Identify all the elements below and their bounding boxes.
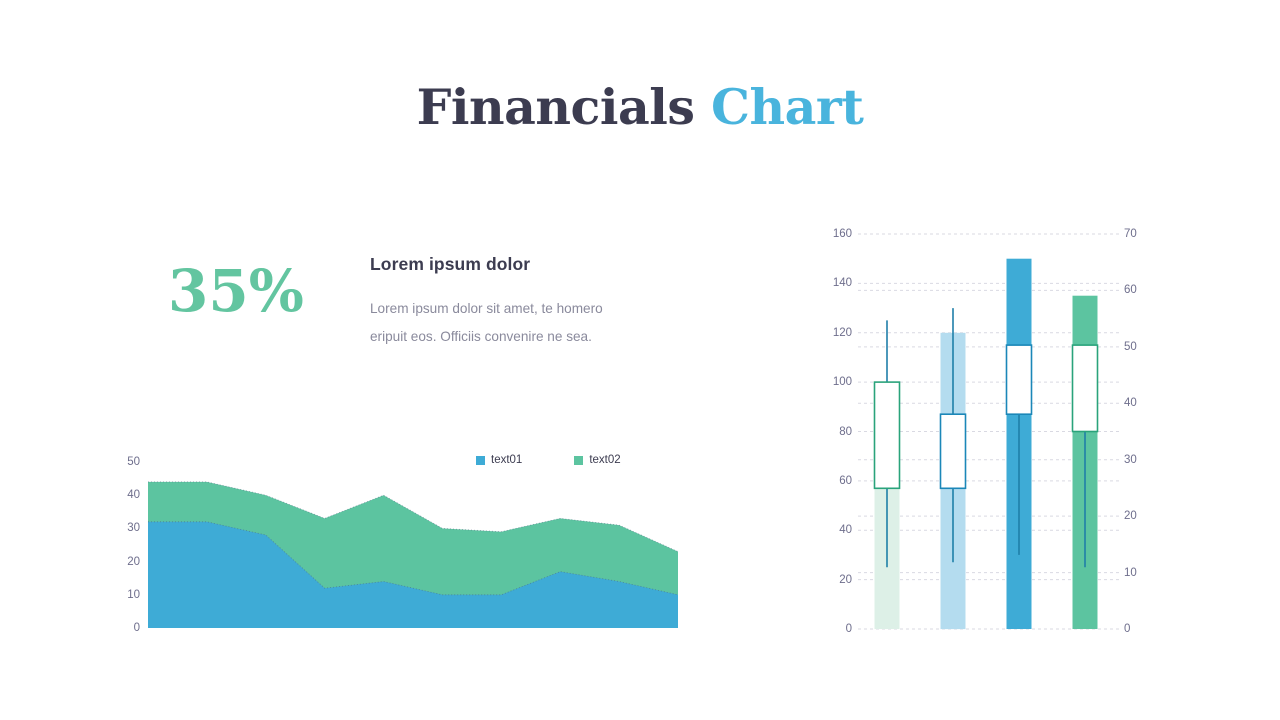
legend-swatch-icon: [476, 456, 485, 465]
candlestick-right-tick: 30: [1124, 454, 1137, 466]
area-chart-y-tick: 10: [127, 589, 140, 601]
candlestick-chart: 160140120100806040200 706050403020100: [818, 228, 1158, 636]
candlestick-body: [1073, 345, 1098, 431]
candlestick-left-tick: 0: [846, 623, 852, 635]
candlestick-right-tick: 40: [1124, 397, 1137, 409]
candlestick-body: [941, 414, 966, 488]
page-title-accent: Chart: [711, 78, 863, 136]
candlestick-right-tick: 20: [1124, 510, 1137, 522]
candlestick-left-tick: 60: [839, 475, 852, 487]
page-title-primary: Financials: [417, 78, 711, 136]
candlestick-item[interactable]: [875, 320, 900, 629]
candlestick-svg: [858, 228, 1122, 636]
candlestick-right-y-axis: 706050403020100: [1124, 228, 1158, 636]
kpi-body-line-2: eripuit eos. Officiis convenire ne sea.: [370, 323, 660, 351]
candlestick-right-tick: 50: [1124, 341, 1137, 353]
kpi-body-text: Lorem ipsum dolor sit amet, te homero er…: [370, 295, 660, 351]
kpi-percent-value: 35%: [168, 262, 298, 320]
area-chart-legend: text01text02: [476, 454, 621, 466]
legend-swatch-icon: [574, 456, 583, 465]
candlestick-body: [875, 382, 900, 488]
area-chart-y-tick: 20: [127, 556, 140, 568]
candlestick-item[interactable]: [941, 308, 966, 629]
area-chart-y-tick: 50: [127, 456, 140, 468]
slide-canvas: Financials Chart 35% Lorem ipsum dolor L…: [0, 0, 1280, 720]
candlestick-right-tick: 0: [1124, 623, 1130, 635]
candlestick-left-tick: 80: [839, 426, 852, 438]
area-chart-y-axis: 01020304050: [110, 432, 140, 637]
legend-item-label: text01: [491, 454, 522, 466]
candlestick-right-tick: 60: [1124, 284, 1137, 296]
kpi-body-line-1: Lorem ipsum dolor sit amet, te homero: [370, 295, 660, 323]
candlestick-item[interactable]: [1007, 259, 1032, 629]
legend-item[interactable]: text02: [574, 454, 620, 466]
page-title: Financials Chart: [0, 78, 1280, 136]
kpi-heading: Lorem ipsum dolor: [370, 254, 530, 275]
candlestick-left-tick: 100: [833, 376, 852, 388]
area-chart-y-tick: 40: [127, 489, 140, 501]
candlestick-right-tick: 70: [1124, 228, 1137, 240]
legend-item[interactable]: text01: [476, 454, 522, 466]
candlestick-right-tick: 10: [1124, 567, 1137, 579]
candlestick-left-tick: 120: [833, 327, 852, 339]
candlestick-left-tick: 40: [839, 524, 852, 536]
candlestick-left-tick: 140: [833, 277, 852, 289]
candlestick-left-y-axis: 160140120100806040200: [818, 228, 852, 636]
candlestick-body: [1007, 345, 1032, 414]
area-chart-y-tick: 0: [134, 622, 140, 634]
candlestick-item[interactable]: [1073, 296, 1098, 629]
candlestick-left-tick: 20: [839, 574, 852, 586]
area-chart-y-tick: 30: [127, 522, 140, 534]
legend-item-label: text02: [589, 454, 620, 466]
candlestick-plot: [858, 228, 1122, 636]
candlestick-left-tick: 160: [833, 228, 852, 240]
